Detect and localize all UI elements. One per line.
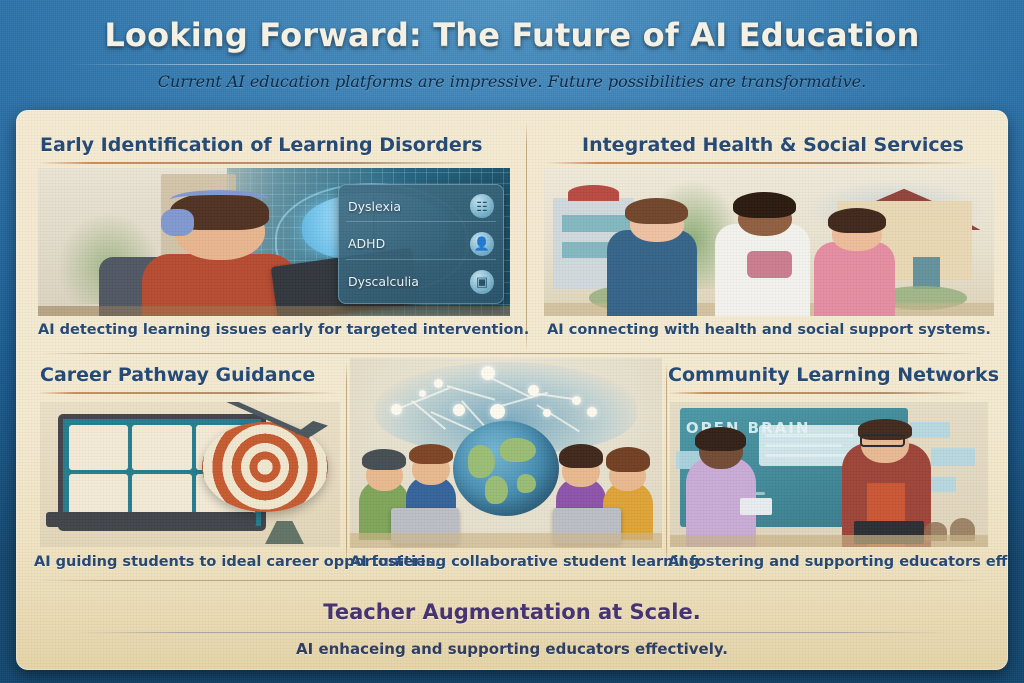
section-title-integrated-health: Integrated Health & Social Services (582, 134, 964, 156)
section-caption-integrated-health: AI connecting with health and social sup… (544, 322, 994, 338)
table-surface (350, 533, 662, 548)
dashboard-line (765, 444, 841, 447)
network-node (391, 404, 402, 415)
section-title-early-identification: Early Identification of Learning Disorde… (40, 134, 482, 156)
student-hair (409, 444, 453, 465)
nurse-hair (625, 198, 688, 225)
laptop-base (46, 512, 256, 527)
poster-header: Looking Forward: The Future of AI Educat… (0, 0, 1024, 105)
diagnosis-label: Dyscalculia (348, 274, 419, 289)
doctor-hair (733, 192, 796, 219)
banner-title: Teacher Augmentation at Scale. (16, 600, 1008, 624)
diagnosis-row: Dyscalculia ▣ (346, 267, 496, 297)
section-rule-early-identification (38, 162, 488, 164)
diagnosis-row: Dyslexia ☷ (346, 191, 496, 222)
headphones-band-icon (170, 190, 269, 210)
illustration-nurse-doctor-and-child (544, 168, 994, 316)
continent-shape (485, 476, 508, 505)
illustration-boy-with-tablet-and-brain-scan: Dyslexia ☷ ADHD 👤 Dyscalculia ▣ (38, 168, 510, 316)
illustration-educators-dashboard: OPEN BRAIN (670, 402, 988, 547)
professional-icon (69, 425, 128, 471)
handheld-device (740, 498, 772, 515)
house-door (913, 257, 940, 290)
continent-shape (517, 474, 536, 493)
network-node (528, 385, 539, 396)
chip-icon: ▣ (470, 270, 494, 294)
section-caption-career-pathway: AI guiding students to ideal career oppo… (34, 554, 344, 570)
student-hair (362, 449, 406, 470)
doctor-tablet (747, 251, 792, 278)
globe-icon (453, 421, 559, 516)
section-title-career-pathway: Career Pathway Guidance (40, 364, 315, 386)
person-icon: 👤 (470, 232, 494, 256)
section-rule-career-pathway (38, 392, 338, 394)
graduate-icon (132, 425, 191, 471)
column-divider-bottom-left (346, 362, 347, 567)
child-hair (828, 208, 887, 233)
grid-dots-icon: ☷ (470, 194, 494, 218)
page-title: Looking Forward: The Future of AI Educat… (0, 16, 1024, 54)
header-divider (68, 64, 956, 65)
illustration-career-laptop-and-target (40, 402, 340, 547)
student-hair (559, 444, 603, 469)
sticky-note (909, 422, 950, 438)
headphones-cup-icon (161, 209, 194, 236)
column-divider-top (526, 122, 527, 352)
network-node (453, 404, 465, 416)
educator-woman-hair (695, 427, 746, 452)
desk-surface (670, 535, 988, 547)
banner-top-divider (38, 580, 986, 581)
section-title-community-networks: Community Learning Networks (668, 364, 999, 386)
diagnosis-label: ADHD (348, 236, 385, 251)
nurse-body (607, 230, 697, 316)
diagnosis-label-panel: Dyslexia ☷ ADHD 👤 Dyscalculia ▣ (338, 184, 504, 304)
section-caption-community-networks: AI fostering and supporting educators ef… (668, 554, 986, 570)
network-node (572, 396, 581, 405)
dashboard-line (765, 434, 854, 437)
section-rule-community-networks (668, 392, 978, 394)
row-divider (38, 353, 986, 354)
section-caption-collaborative-learning: AI fostering collaborative student learn… (350, 554, 662, 570)
child-body (814, 242, 895, 316)
section-caption-early-identification: AI detecting learning issues early for t… (38, 322, 510, 338)
content-card: Early Identification of Learning Disorde… (16, 110, 1008, 670)
banner-subtitle: AI enhaceing and supporting educators ef… (16, 640, 1008, 658)
page-subtitle: Current AI education platforms are impre… (0, 72, 1024, 91)
desk-surface (38, 306, 510, 316)
sticky-note (931, 448, 976, 465)
continent-shape (468, 445, 496, 477)
column-divider-bottom-right (666, 362, 667, 567)
network-node (419, 390, 426, 397)
illustration-students-with-globe-network (350, 358, 662, 548)
infographic-poster: Looking Forward: The Future of AI Educat… (0, 0, 1024, 683)
dashboard-line (765, 454, 848, 457)
target-stand (265, 521, 304, 544)
network-node (481, 366, 495, 380)
diagnosis-row: ADHD 👤 (346, 229, 496, 260)
section-rule-integrated-health (546, 162, 976, 164)
continent-shape (500, 438, 536, 463)
network-node (490, 404, 505, 419)
banner-divider (76, 632, 948, 633)
glasses-icon (860, 434, 905, 447)
diagnosis-label: Dyslexia (348, 199, 401, 214)
student-hair (606, 447, 650, 472)
